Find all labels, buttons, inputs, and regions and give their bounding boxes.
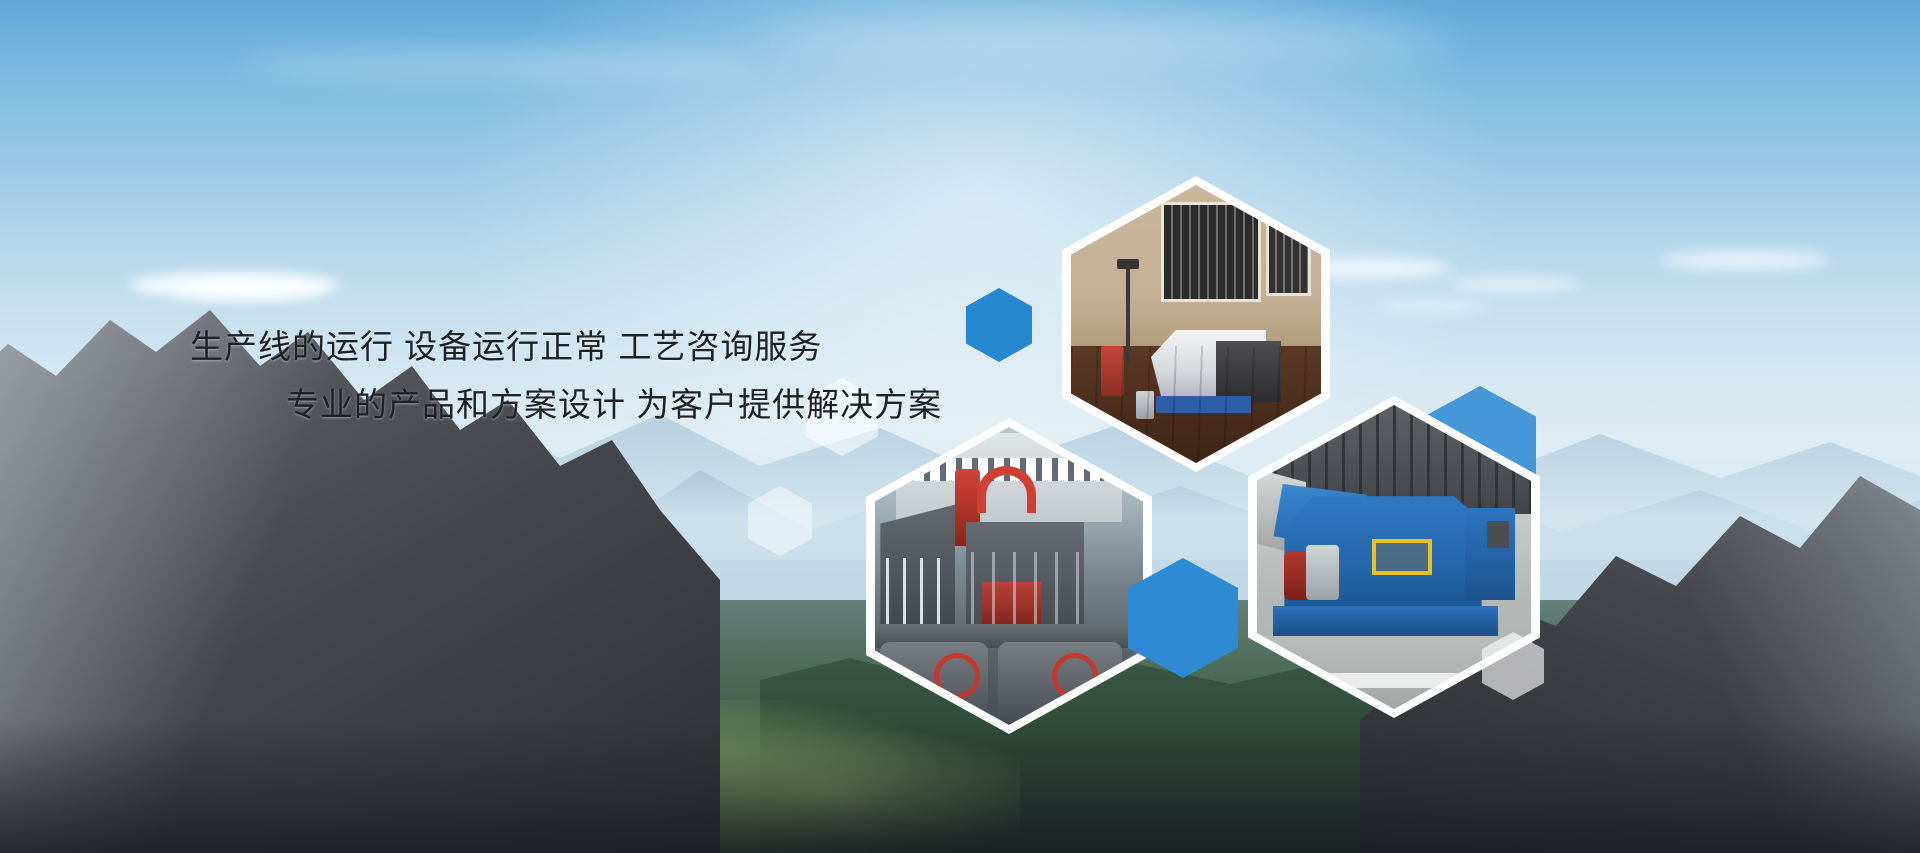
headline-block: 生产线的运行 设备运行正常 工艺咨询服务 专业的产品和方案设计 为客户提供解决方…: [160, 318, 980, 434]
hero-banner: 生产线的运行 设备运行正常 工艺咨询服务 专业的产品和方案设计 为客户提供解决方…: [0, 0, 1920, 853]
photo-hex-press-machinery[interactable]: [866, 418, 1152, 734]
decor-hex-white-lower: [748, 486, 812, 556]
photo-hex-welding-machine[interactable]: [1062, 176, 1330, 472]
photo-hex-press-machinery-image: [875, 427, 1143, 725]
headline-line-1: 生产线的运行 设备运行正常 工艺咨询服务: [160, 318, 980, 376]
photo-hex-welding-machine-image: [1071, 185, 1321, 463]
headline-line-2: 专业的产品和方案设计 为客户提供解决方案: [160, 376, 980, 434]
